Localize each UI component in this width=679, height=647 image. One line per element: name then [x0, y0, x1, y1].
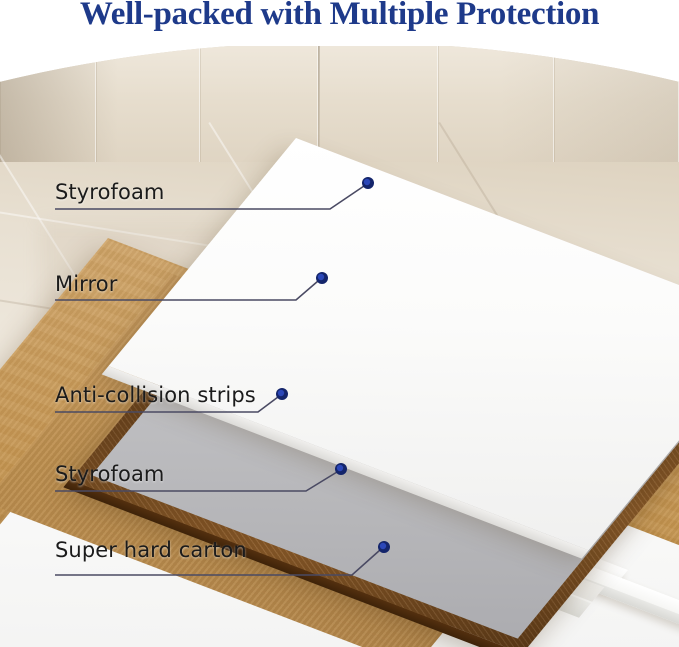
title-bar: Well-packed with Multiple Protection — [0, 0, 679, 46]
leader-line-path — [55, 550, 380, 575]
leader-dot-highlight — [380, 543, 386, 549]
infographic-root: Well-packed with Multiple Protection — [0, 0, 679, 647]
page-title: Well-packed with Multiple Protection — [80, 0, 599, 31]
callout-leader — [0, 0, 679, 647]
